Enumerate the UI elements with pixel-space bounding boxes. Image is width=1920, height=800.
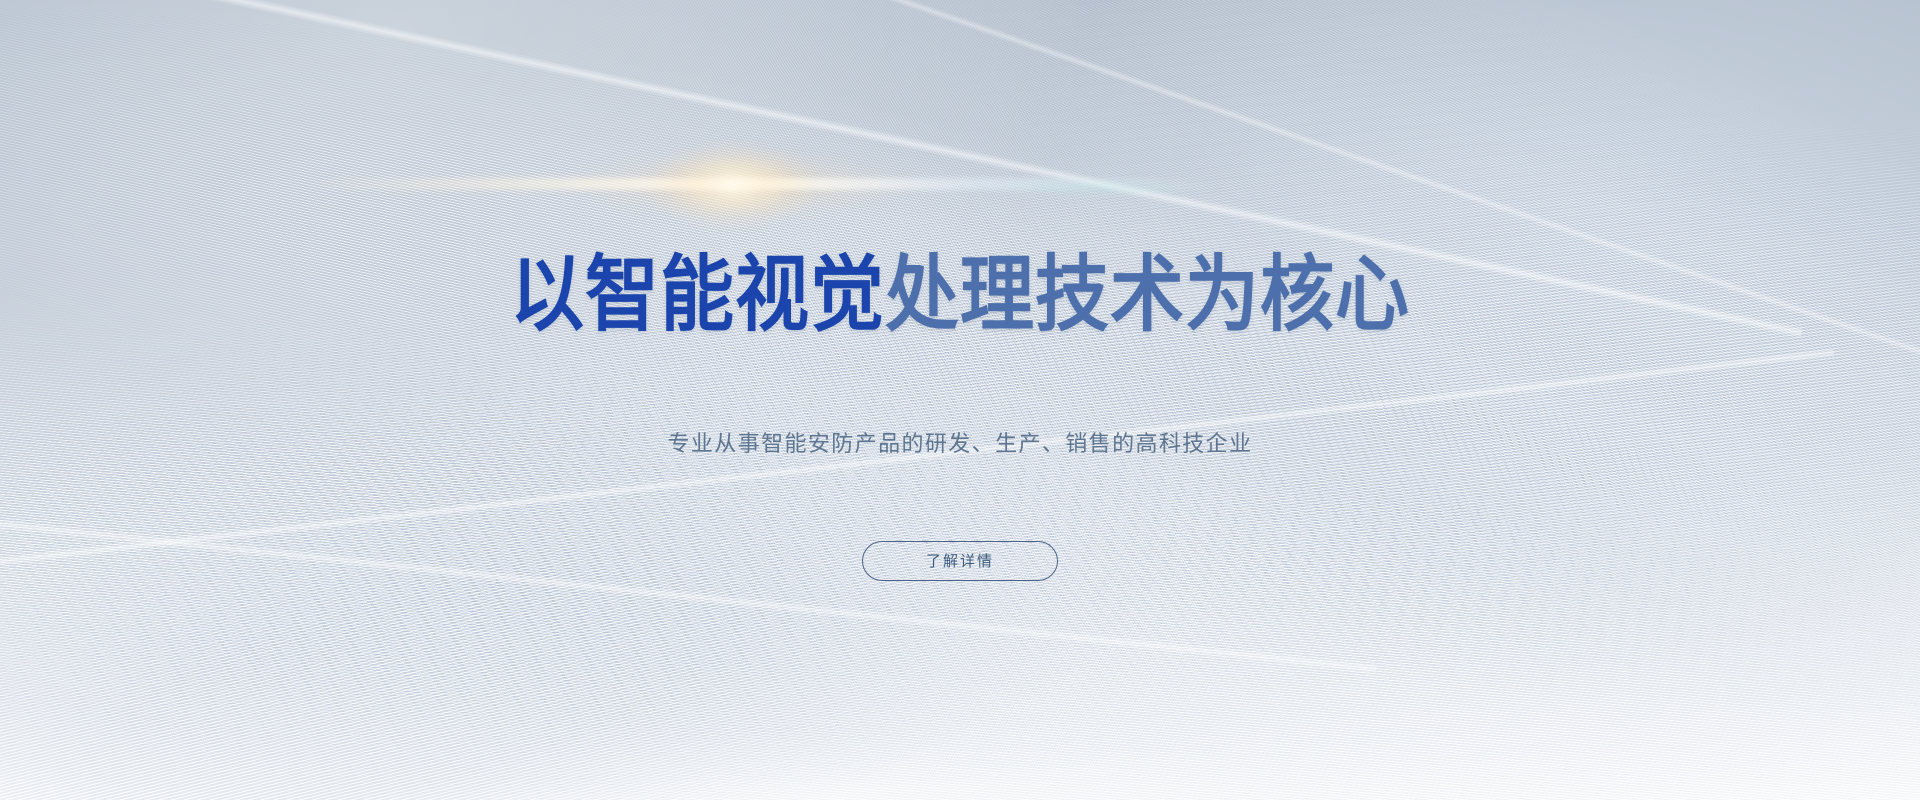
hero-headline: 以智能视觉处理技术为核心 [510,254,1410,337]
learn-more-button[interactable]: 了解详情 [862,541,1058,581]
headline-segment-strong: 以智能视觉 [510,247,885,343]
hero-subtitle: 专业从事智能安防产品的研发、生产、销售的高科技企业 [667,434,1252,456]
hero-content: 以智能视觉处理技术为核心 专业从事智能安防产品的研发、生产、销售的高科技企业 了… [0,0,1920,800]
hero-banner: 以智能视觉处理技术为核心 专业从事智能安防产品的研发、生产、销售的高科技企业 了… [0,0,1920,800]
headline-segment-soft: 处理技术为核心 [885,247,1410,343]
